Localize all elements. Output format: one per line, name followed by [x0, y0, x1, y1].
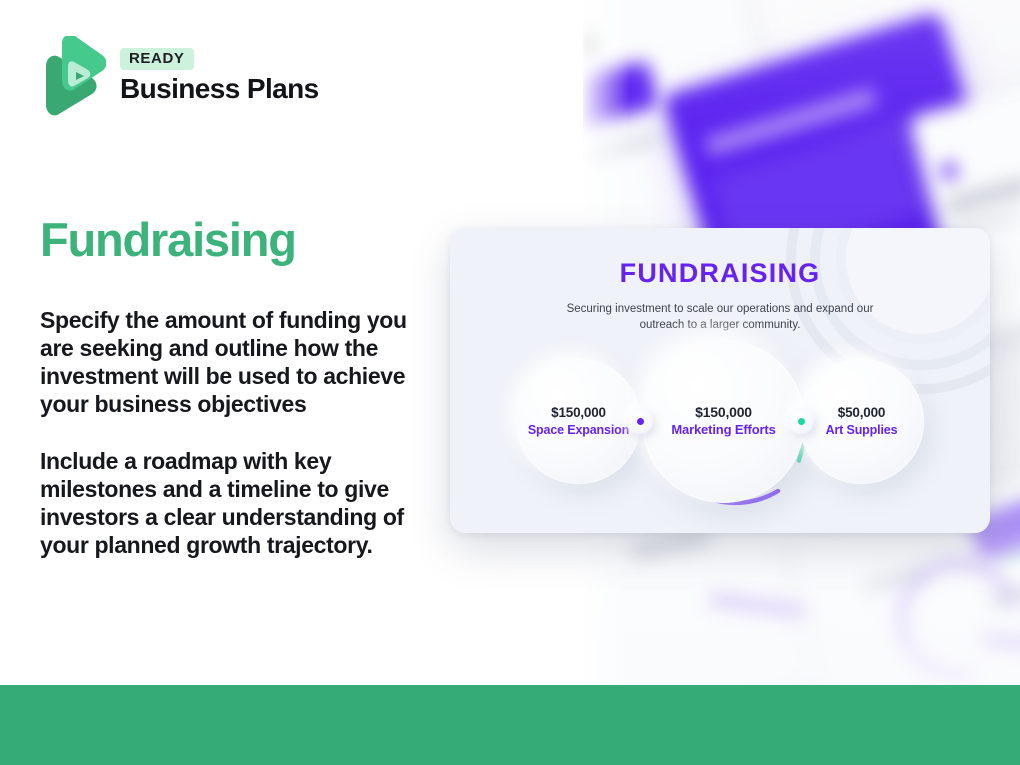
brand-name: Business Plans — [120, 74, 319, 103]
funding-item-marketing-efforts[interactable]: $150,000 Marketing Efforts — [642, 340, 805, 503]
card-title: FUNDRAISING — [450, 258, 990, 289]
connector-dot-core — [798, 418, 805, 425]
body-copy: Specify the amount of funding you are se… — [40, 306, 425, 559]
funding-breakdown-chart: $150,000 Space Expansion $150,000 Market… — [450, 340, 990, 490]
funding-amount: $50,000 — [838, 405, 885, 422]
footer-bar — [0, 685, 1020, 765]
connector-dot-core — [637, 418, 644, 425]
background-text-block — [944, 177, 1020, 214]
page-title: Fundraising — [40, 216, 296, 263]
funding-label: Space Expansion — [528, 422, 629, 438]
slide-root: READY Business Plans Fundraising Specify… — [0, 0, 1020, 765]
brand-text: READY Business Plans — [120, 48, 319, 103]
funding-amount: $150,000 — [551, 405, 606, 422]
ready-badge: READY — [120, 48, 194, 70]
play-triangle-logo-icon — [40, 36, 106, 116]
funding-label: Art Supplies — [826, 422, 898, 438]
slide-preview-card[interactable]: FUNDRAISING Securing investment to scale… — [450, 228, 990, 533]
connector-dot-right — [788, 408, 814, 434]
body-paragraph-1: Specify the amount of funding you are se… — [40, 306, 425, 418]
brand-logo: READY Business Plans — [40, 36, 319, 116]
funding-item-space-expansion[interactable]: $150,000 Space Expansion — [516, 359, 641, 484]
connector-dot-left — [627, 408, 653, 434]
funding-label: Marketing Efforts — [671, 422, 775, 439]
body-paragraph-2: Include a roadmap with key milestones an… — [40, 447, 425, 559]
funding-item-art-supplies[interactable]: $50,000 Art Supplies — [799, 359, 924, 484]
funding-amount: $150,000 — [695, 404, 752, 422]
background-bullet-dot — [939, 161, 959, 181]
background-text-block — [583, 131, 664, 191]
